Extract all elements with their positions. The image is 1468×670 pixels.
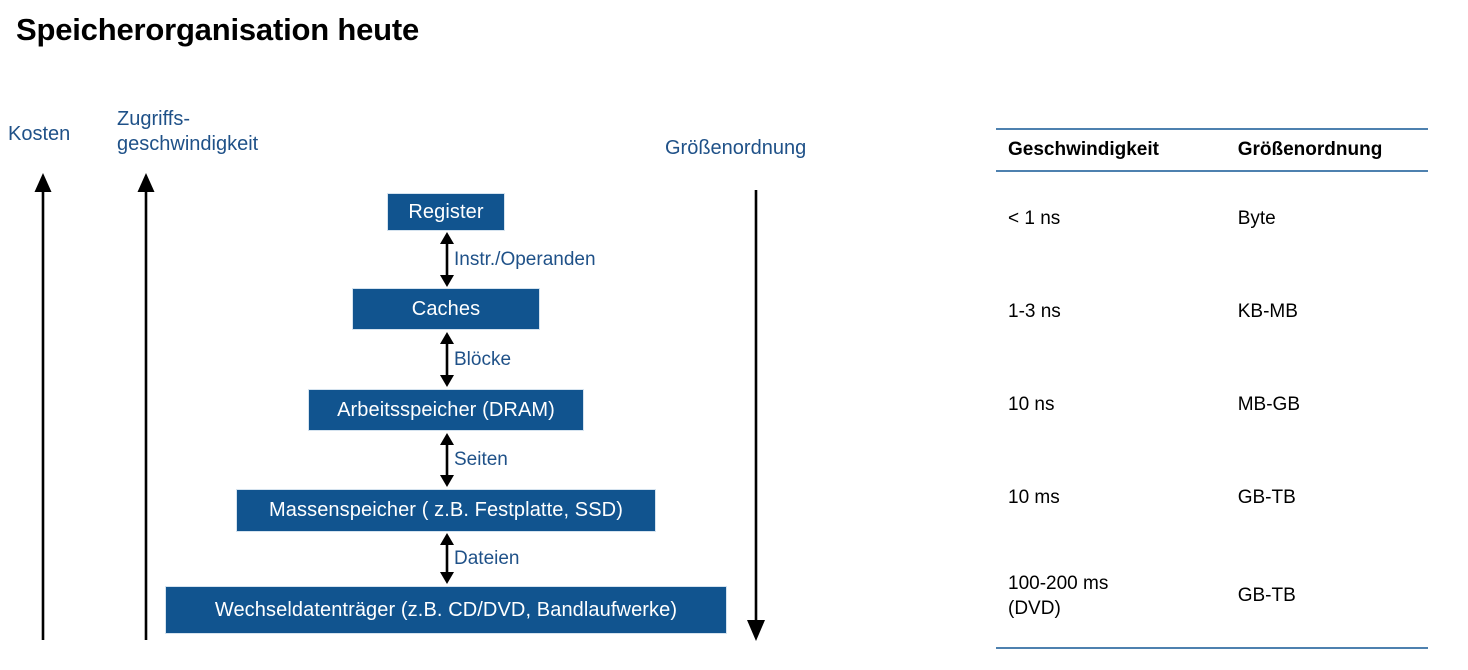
pyramid-level-dram[interactable]: Arbeitsspeicher (DRAM) <box>308 389 584 431</box>
table-header-groessenordnung: Größenordnung <box>1226 129 1428 171</box>
table-row: < 1 ns Byte <box>996 171 1428 265</box>
connector-label-dateien: Dateien <box>454 548 520 570</box>
pyramid-level-caches[interactable]: Caches <box>352 288 540 330</box>
connector-instr-operanden: Instr./Operanden <box>438 231 458 288</box>
cell-speed-3: 10 ms <box>996 451 1226 544</box>
down-arrow-icon-groessenordnung <box>747 190 765 641</box>
table-row: 10 ms GB-TB <box>996 451 1428 544</box>
table-row: 100-200 ms (DVD) GB-TB <box>996 544 1428 648</box>
axis-label-groessenordnung: Größenordnung <box>665 136 806 161</box>
cell-size-3: GB-TB <box>1226 451 1428 544</box>
pyramid-level-massenspeicher[interactable]: Massenspeicher ( z.B. Festplatte, SSD) <box>236 489 656 532</box>
cell-speed-4: 100-200 ms (DVD) <box>996 544 1226 648</box>
table-row: 1-3 ns KB-MB <box>996 265 1428 358</box>
axis-label-kosten: Kosten <box>8 122 70 147</box>
connector-dateien: Dateien <box>438 532 458 586</box>
table-header-geschwindigkeit: Geschwindigkeit <box>996 129 1226 171</box>
slide-canvas: Speicherorganisation heute Kosten Zugr <box>0 0 1468 670</box>
axis-arrows-group <box>0 0 800 670</box>
cell-size-2: MB-GB <box>1226 358 1428 451</box>
pyramid-level-register[interactable]: Register <box>387 193 505 231</box>
table-row: 10 ns MB-GB <box>996 358 1428 451</box>
cell-speed-1: 1-3 ns <box>996 265 1226 358</box>
specification-table: Geschwindigkeit Größenordnung < 1 ns Byt… <box>996 128 1428 649</box>
connector-label-seiten: Seiten <box>454 449 508 471</box>
cell-size-0: Byte <box>1226 171 1428 265</box>
up-arrow-icon-zugriffsgeschwindigkeit <box>138 173 155 640</box>
connector-seiten: Seiten <box>438 431 458 489</box>
axis-label-zugriffsgeschwindigkeit: Zugriffs- geschwindigkeit <box>117 107 258 157</box>
cell-speed-2: 10 ns <box>996 358 1226 451</box>
cell-speed-0: < 1 ns <box>996 171 1226 265</box>
connector-label-bloecke: Blöcke <box>454 349 511 371</box>
connector-label-instr-operanden: Instr./Operanden <box>454 249 596 271</box>
page-title: Speicherorganisation heute <box>16 12 419 48</box>
up-arrow-icon-kosten <box>35 173 52 640</box>
cell-size-1: KB-MB <box>1226 265 1428 358</box>
cell-size-4: GB-TB <box>1226 544 1428 648</box>
table-header-row: Geschwindigkeit Größenordnung <box>996 129 1428 171</box>
connector-bloecke: Blöcke <box>438 330 458 389</box>
pyramid-level-wechseldatentraeger[interactable]: Wechseldatenträger (z.B. CD/DVD, Bandlau… <box>165 586 727 634</box>
